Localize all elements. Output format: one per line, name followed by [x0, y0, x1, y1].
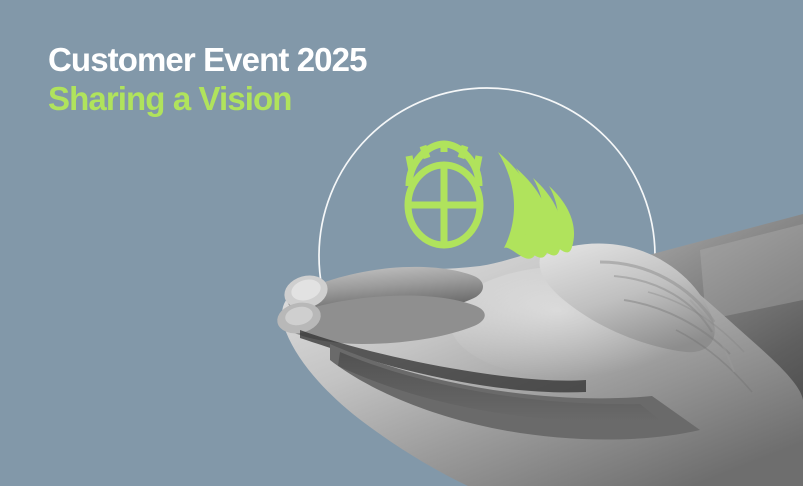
crescent-waves	[498, 152, 574, 259]
page-title: Customer Event 2025	[48, 42, 367, 78]
page-subtitle: Sharing a Vision	[48, 81, 367, 117]
event-banner: Customer Event 2025 Sharing a Vision	[0, 0, 803, 486]
headline-block: Customer Event 2025 Sharing a Vision	[48, 42, 367, 117]
